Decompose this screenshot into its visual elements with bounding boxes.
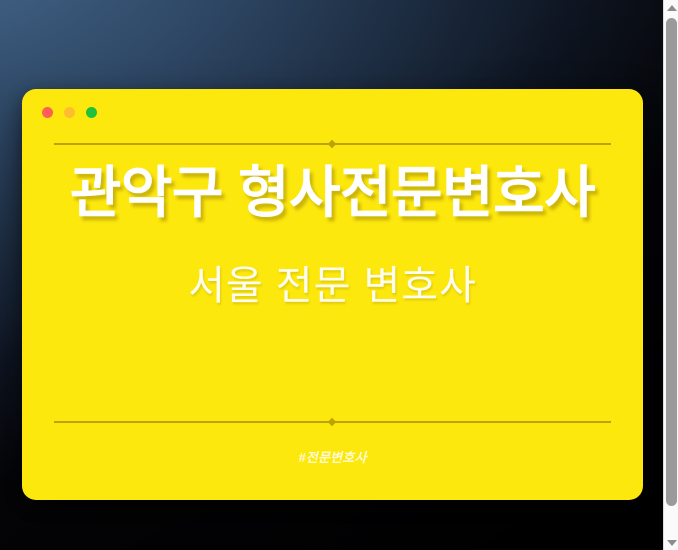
divider-bottom xyxy=(54,421,611,423)
scroll-up-arrow-icon[interactable] xyxy=(664,0,678,15)
divider-top xyxy=(54,143,611,145)
triangle-down-icon xyxy=(667,540,677,546)
divider-node-icon xyxy=(328,140,336,148)
triangle-up-icon xyxy=(667,5,677,11)
scrollbar-thumb[interactable] xyxy=(666,18,677,506)
page-subtitle: 서울 전문 변호사 xyxy=(56,224,609,310)
minimize-dot-icon[interactable] xyxy=(64,107,75,118)
card-content: 관악구 형사전문변호사 서울 전문 변호사 xyxy=(56,161,609,310)
hashtag-label: #전문변호사 xyxy=(54,447,611,466)
window-controls xyxy=(42,107,97,118)
divider-node-icon xyxy=(328,418,336,426)
scroll-down-arrow-icon[interactable] xyxy=(664,535,678,550)
maximize-dot-icon[interactable] xyxy=(86,107,97,118)
vertical-scrollbar[interactable] xyxy=(663,0,678,550)
close-dot-icon[interactable] xyxy=(42,107,53,118)
screenshot-viewport: 관악구 형사전문변호사 서울 전문 변호사 #전문변호사 xyxy=(0,0,678,550)
page-title: 관악구 형사전문변호사 xyxy=(56,161,609,224)
yellow-title-card: 관악구 형사전문변호사 서울 전문 변호사 #전문변호사 xyxy=(22,89,643,500)
